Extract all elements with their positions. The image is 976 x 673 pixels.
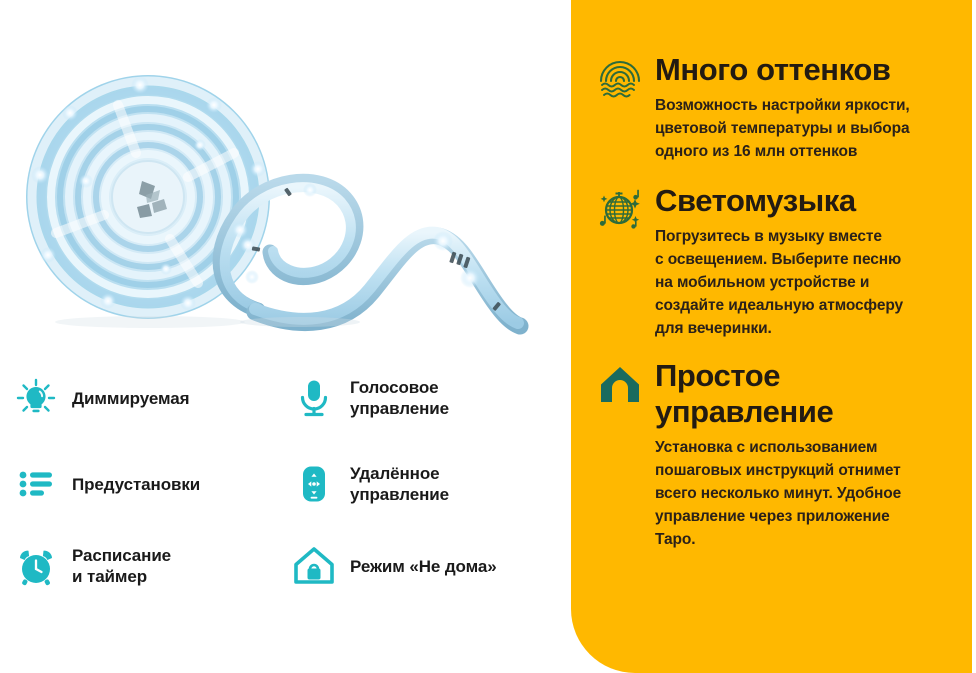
- feature-label: Диммируемая: [72, 388, 189, 409]
- feature-label: Удалённое управление: [350, 463, 449, 505]
- feature-grid: Диммируемая Предустановки: [0, 372, 571, 622]
- benefit-title: Простое управление: [655, 358, 944, 430]
- alarm-clock-icon: [14, 544, 58, 588]
- benefit-block-easy-control: Простое управление Установка с использов…: [585, 358, 944, 551]
- feature-item-voice-control: Голосовое управление: [292, 376, 562, 420]
- feature-label: Режим «Не дома»: [350, 556, 497, 577]
- feature-item-away-mode: Режим «Не дома»: [292, 544, 562, 588]
- benefit-body: Установка с использованием пошаговых инс…: [655, 436, 944, 551]
- dimmable-bulb-icon: [14, 376, 58, 420]
- away-mode-house-lock-icon: [292, 544, 336, 588]
- house-icon: [593, 362, 647, 416]
- feature-item-schedule-timer: Расписание и таймер: [14, 544, 274, 588]
- left-panel: Диммируемая Предустановки: [0, 0, 571, 673]
- feature-item-presets: Предустановки: [14, 462, 274, 506]
- feature-item-remote-control: Удалённое управление: [292, 462, 562, 506]
- benefit-block-shades: Много оттенков Возможность настройки ярк…: [585, 52, 944, 163]
- rainbow-waves-icon: [593, 56, 647, 110]
- benefit-title: Много оттенков: [655, 52, 944, 88]
- benefit-body: Возможность настройки яркости, цветовой …: [655, 94, 944, 163]
- benefit-title: Светомузыка: [655, 183, 944, 219]
- benefit-block-light-music: Светомузыка Погрузитесь в музыку вместе …: [585, 183, 944, 340]
- feature-label: Расписание и таймер: [72, 545, 171, 587]
- remote-control-icon: [292, 462, 336, 506]
- feature-label: Голосовое управление: [350, 377, 449, 419]
- presets-list-icon: [14, 462, 58, 506]
- microphone-icon: [292, 376, 336, 420]
- benefit-body: Погрузитесь в музыку вместе с освещением…: [655, 225, 944, 340]
- benefits-panel: Много оттенков Возможность настройки ярк…: [571, 0, 972, 673]
- feature-label: Предустановки: [72, 474, 200, 495]
- feature-item-dimmable: Диммируемая: [14, 376, 274, 420]
- product-image-led-strip: [0, 30, 560, 360]
- disco-ball-icon: [593, 187, 647, 241]
